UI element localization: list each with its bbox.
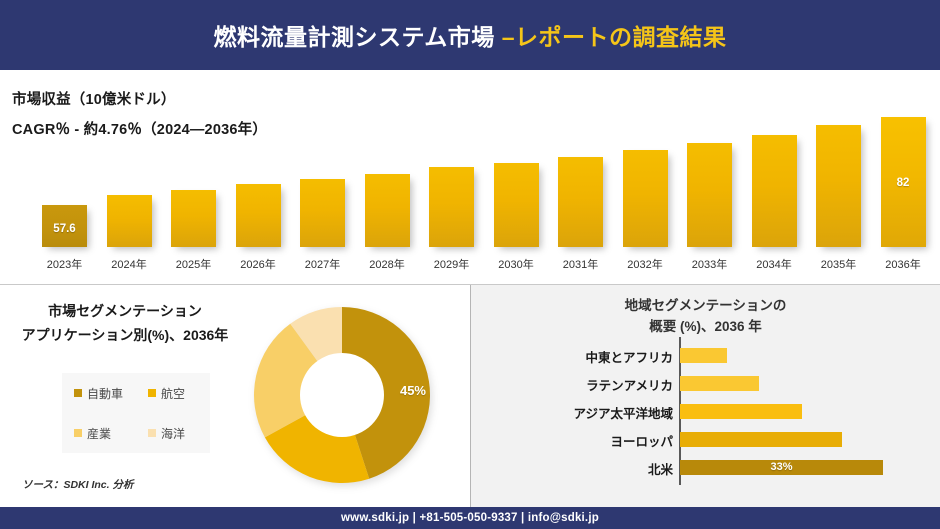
page-title-main: 燃料流量計測システム市場 — [214, 24, 502, 50]
bar-column: 2025年 — [171, 85, 216, 247]
donut-legend: 自動車航空産業海洋 — [62, 373, 210, 453]
bar-rect: 2034年 — [752, 135, 797, 247]
segmentation-panel: 市場セグメンテーション アプリケーション別(%)、2036年 自動車航空産業海洋… — [0, 285, 470, 507]
bar-category-label: 2027年 — [305, 256, 340, 272]
donut-value-label: 45% — [400, 383, 426, 398]
bar-column: 2028年 — [365, 85, 410, 247]
source-note: ソース：SDKI Inc. 分析 — [22, 477, 133, 492]
bar-category-label: 2024年 — [111, 256, 146, 272]
legend-item[interactable]: 航空 — [136, 385, 210, 402]
region-title: 地域セグメンテーションの 概要 (%)、2036 年 — [471, 295, 940, 337]
bar-column: 2035年 — [816, 85, 861, 247]
bar-rect: 2027年 — [300, 179, 345, 247]
segmentation-title: 市場セグメンテーション アプリケーション別(%)、2036年 — [0, 299, 250, 347]
region-row: ヨーロッパ — [471, 429, 940, 451]
bar-rect: 2031年 — [558, 157, 603, 247]
legend-item[interactable]: 産業 — [62, 425, 136, 442]
segmentation-title-line2: アプリケーション別(%)、2036年 — [0, 323, 250, 347]
bar-category-label: 2026年 — [240, 256, 275, 272]
bar-column: 2032年 — [623, 85, 668, 247]
bar-rect: 57.62023年 — [42, 205, 87, 247]
region-panel: 地域セグメンテーションの 概要 (%)、2036 年 中東とアフリカラテンアメリ… — [471, 285, 940, 507]
region-bar-rect: 33% — [680, 460, 883, 475]
region-category-label: ヨーロッパ — [473, 431, 673, 450]
bar-category-label: 2025年 — [176, 256, 211, 272]
bar-value-label: 82 — [881, 177, 926, 189]
bar-column: 2024年 — [107, 85, 152, 247]
bar-category-label: 2036年 — [885, 256, 920, 272]
region-category-label: ラテンアメリカ — [473, 375, 673, 394]
bar-category-label: 2032年 — [627, 256, 662, 272]
region-bar-plot-area: 中東とアフリカラテンアメリカアジア太平洋地域ヨーロッパ北米33% — [471, 337, 940, 489]
bar-column: 2029年 — [429, 85, 474, 247]
bar-category-label: 2023年 — [47, 256, 82, 272]
bar-column: 2031年 — [558, 85, 603, 247]
header-banner: 燃料流量計測システム市場 –レポートの調査結果 — [0, 0, 940, 70]
region-bar-rect — [680, 432, 842, 447]
region-category-label: アジア太平洋地域 — [473, 403, 673, 422]
region-row: 中東とアフリカ — [471, 345, 940, 367]
bar-category-label: 2030年 — [498, 256, 533, 272]
legend-swatch-icon — [148, 429, 156, 437]
bar-rect: 2029年 — [429, 167, 474, 247]
bar-chart-plot-area: 57.62023年2024年2025年2026年2027年2028年2029年2… — [32, 85, 912, 247]
region-category-label: 中東とアフリカ — [473, 347, 673, 366]
segmentation-title-line1: 市場セグメンテーション — [0, 299, 250, 323]
revenue-bar-chart: 57.62023年2024年2025年2026年2027年2028年2029年2… — [0, 145, 940, 275]
bar-column: 57.62023年 — [42, 85, 87, 247]
legend-label: 産業 — [87, 425, 111, 442]
legend-label: 自動車 — [87, 385, 123, 402]
bar-rect: 2026年 — [236, 184, 281, 247]
donut-chart: 45% — [252, 305, 432, 485]
region-category-label: 北米 — [473, 459, 673, 478]
bar-rect: 2032年 — [623, 150, 668, 247]
bar-category-label: 2029年 — [434, 256, 469, 272]
region-row: ラテンアメリカ — [471, 373, 940, 395]
bar-rect: 2033年 — [687, 143, 732, 247]
footer-contact: www.sdki.jp | +81-505-050-9337 | info@sd… — [341, 512, 599, 524]
bar-column: 2026年 — [236, 85, 281, 247]
infographic-page: 燃料流量計測システム市場 –レポートの調査結果 市場収益（10億米ドル） CAG… — [0, 0, 940, 529]
footer-banner: www.sdki.jp | +81-505-050-9337 | info@sd… — [0, 507, 940, 529]
legend-item[interactable]: 自動車 — [62, 385, 136, 402]
bar-column: 2033年 — [687, 85, 732, 247]
bar-column: 822036年 — [881, 85, 926, 247]
region-title-line1: 地域セグメンテーションの — [471, 295, 940, 316]
region-row: アジア太平洋地域 — [471, 401, 940, 423]
page-title-accent: –レポートの調査結果 — [502, 24, 727, 50]
legend-swatch-icon — [148, 389, 156, 397]
bar-category-label: 2034年 — [756, 256, 791, 272]
legend-item[interactable]: 海洋 — [136, 425, 210, 442]
legend-label: 海洋 — [161, 425, 185, 442]
bar-category-label: 2033年 — [692, 256, 727, 272]
bar-rect: 2025年 — [171, 190, 216, 247]
bar-value-label: 57.6 — [42, 223, 87, 235]
bar-category-label: 2028年 — [369, 256, 404, 272]
region-title-line2: 概要 (%)、2036 年 — [471, 316, 940, 337]
bar-category-label: 2031年 — [563, 256, 598, 272]
bar-rect: 2030年 — [494, 163, 539, 247]
bar-rect: 822036年 — [881, 117, 926, 247]
bar-rect: 2035年 — [816, 125, 861, 247]
bar-rect: 2024年 — [107, 195, 152, 247]
region-value-label: 33% — [680, 460, 883, 475]
region-bar-rect — [680, 376, 759, 391]
bar-column: 2027年 — [300, 85, 345, 247]
bar-rect: 2028年 — [365, 174, 410, 247]
page-title: 燃料流量計測システム市場 –レポートの調査結果 — [214, 18, 727, 52]
bar-column: 2030年 — [494, 85, 539, 247]
region-bar-rect — [680, 404, 802, 419]
region-row: 北米33% — [471, 457, 940, 479]
legend-swatch-icon — [74, 429, 82, 437]
legend-swatch-icon — [74, 389, 82, 397]
region-bar-rect — [680, 348, 727, 363]
bar-column: 2034年 — [752, 85, 797, 247]
legend-label: 航空 — [161, 385, 185, 402]
bar-category-label: 2035年 — [821, 256, 856, 272]
